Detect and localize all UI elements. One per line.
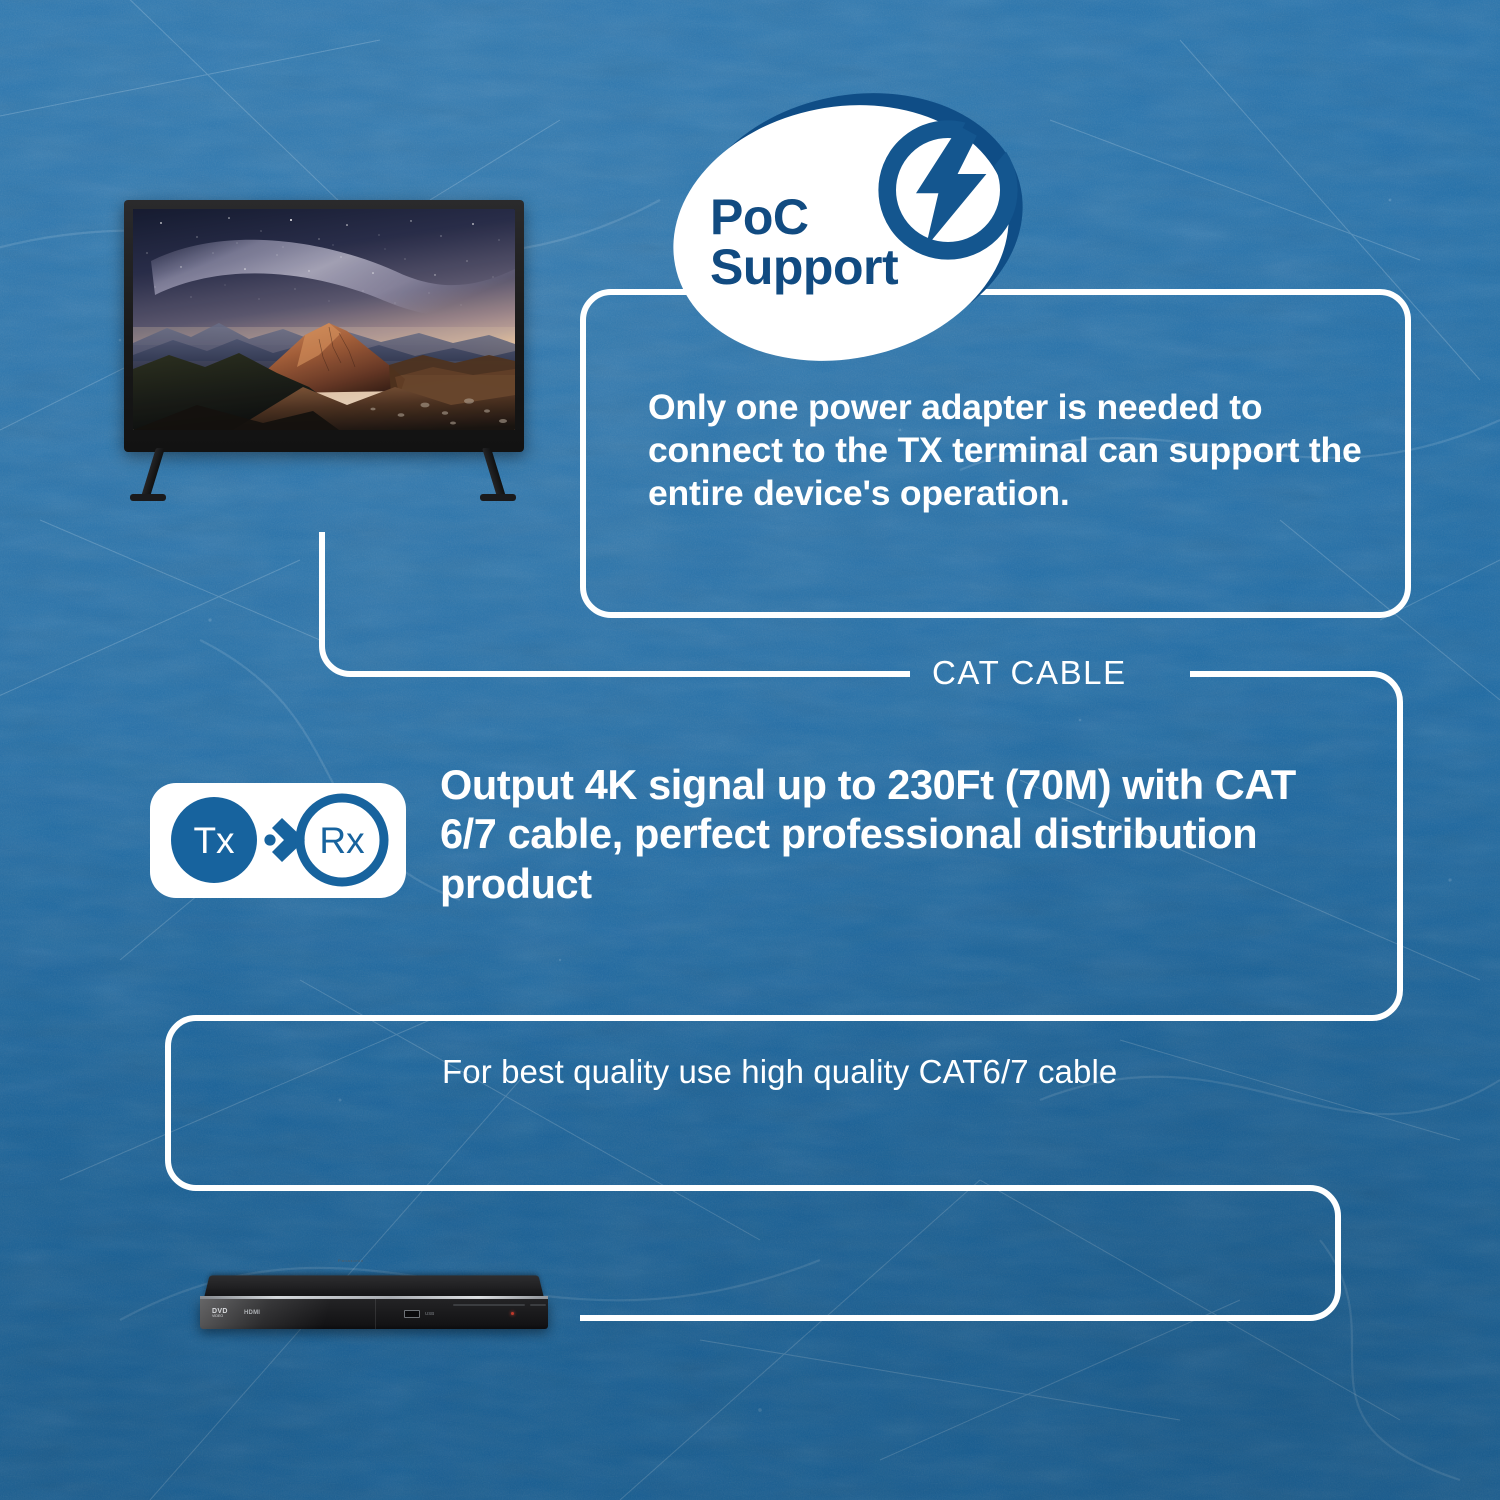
tx-label: Tx (193, 820, 235, 861)
dvd-logo-sub: VIDEO (212, 1315, 228, 1319)
tv-screen (133, 209, 515, 430)
tv-screen-image (133, 209, 515, 430)
tx-rx-badge: Tx Rx (150, 783, 406, 898)
rx-label: Rx (319, 820, 365, 861)
dvd-disc-slot (453, 1304, 525, 1306)
dvd-panel-seam (375, 1299, 376, 1329)
hdmi-logo: HDMI (244, 1310, 260, 1316)
power-led (511, 1312, 514, 1315)
poc-support-body-text: Only one power adapter is needed to conn… (648, 386, 1388, 515)
cat-cable-body-text: Output 4K signal up to 230Ft (70M) with … (440, 760, 1300, 908)
quality-body-text: For best quality use high quality CAT6/7… (442, 1048, 1142, 1097)
tv-foot-left (130, 494, 166, 501)
tv-device (124, 200, 524, 490)
tv-bezel (124, 200, 524, 452)
usb-label: USB (425, 1311, 434, 1316)
lightning-bolt-in-circle-icon (868, 110, 1028, 270)
dvd-player-device: Panasonic DVD VIDEO HDMI USB (198, 1272, 550, 1338)
dvd-logo: DVD VIDEO (212, 1308, 228, 1319)
dvd-front-panel: DVD VIDEO HDMI USB (200, 1299, 548, 1329)
tv-connector-line (322, 532, 910, 674)
dvd-brand-label: Panasonic (338, 1258, 364, 1263)
dvd-top-panel (204, 1275, 544, 1298)
cat-cable-label: CAT CABLE (932, 654, 1127, 692)
dvd-vent-slot (530, 1304, 546, 1306)
usb-port (404, 1310, 420, 1318)
infographic-canvas: PoC Support Only one power adapter is ne… (0, 0, 1500, 1500)
tv-foot-right (480, 494, 516, 501)
poc-support-badge: PoC Support (672, 95, 1024, 367)
